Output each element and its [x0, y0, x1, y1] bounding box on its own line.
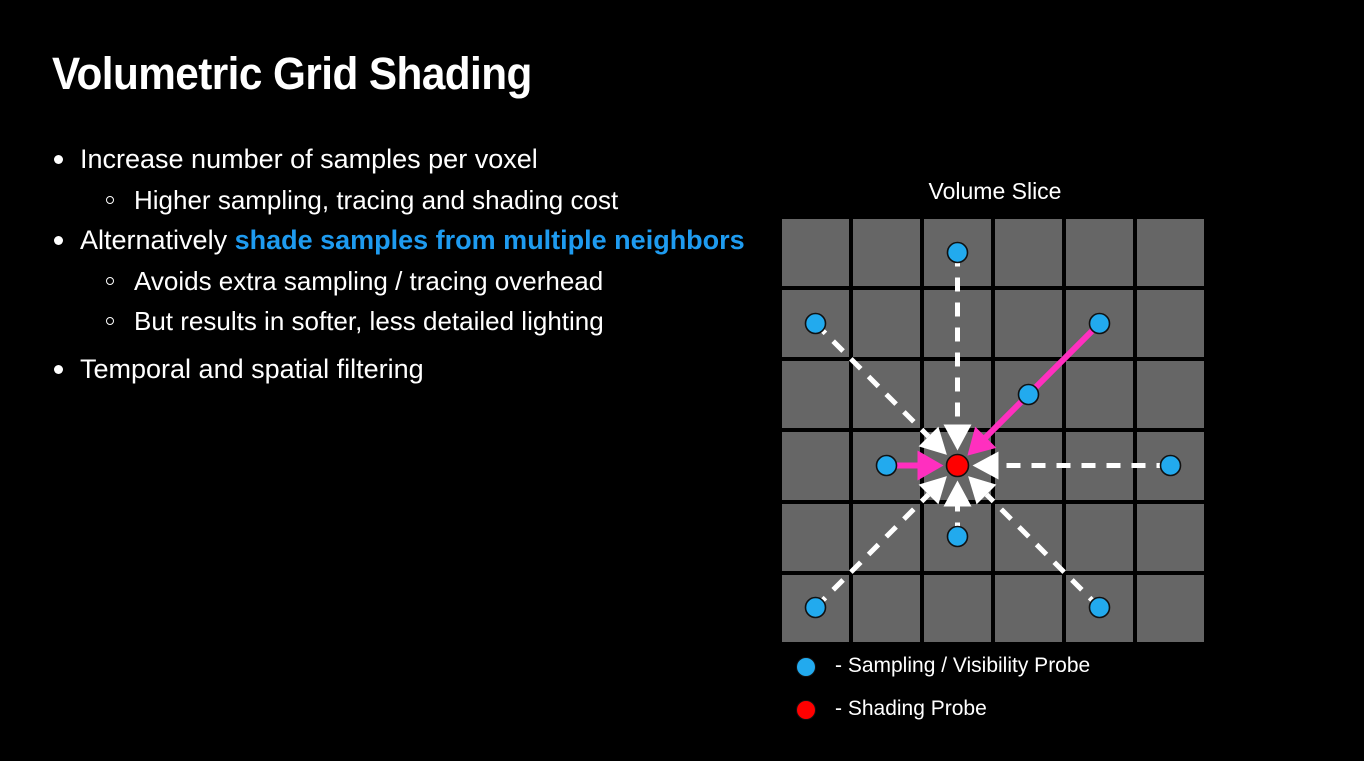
- voxel-cell: [995, 504, 1062, 571]
- voxel-cell: [924, 290, 991, 357]
- voxel-cell: [782, 290, 849, 357]
- voxel-cell: [782, 432, 849, 499]
- voxel-cell: [853, 432, 920, 499]
- voxel-cell: [995, 361, 1062, 428]
- voxel-cell: [1137, 361, 1204, 428]
- bullet-list: Increase number of samples per voxelHigh…: [50, 146, 780, 397]
- blue-dot-icon: [796, 657, 816, 677]
- page-title: Volumetric Grid Shading: [52, 48, 532, 100]
- bullet-text: Temporal and spatial filtering: [80, 354, 424, 384]
- bullet-circle-icon: [106, 196, 114, 204]
- legend: - Sampling / Visibility Probe- Shading P…: [796, 657, 1226, 743]
- volume-slice-diagram: Volume Slice - Sampling / Visibility Pro…: [760, 170, 1230, 740]
- voxel-cell: [853, 219, 920, 286]
- voxel-cell: [1137, 504, 1204, 571]
- voxel-cell: [1137, 432, 1204, 499]
- bullet-item-l2: Avoids extra sampling / tracing overhead: [50, 268, 780, 294]
- bullet-text: Avoids extra sampling / tracing overhead: [134, 266, 603, 296]
- bullet-text: But results in softer, less detailed lig…: [134, 306, 604, 336]
- voxel-cell: [995, 290, 1062, 357]
- voxel-cell: [924, 432, 991, 499]
- voxel-cell: [853, 504, 920, 571]
- voxel-cell: [1066, 361, 1133, 428]
- legend-label: - Sampling / Visibility Probe: [835, 654, 1090, 678]
- legend-label: - Shading Probe: [835, 697, 987, 721]
- bullet-text: Alternatively shade samples from multipl…: [80, 225, 745, 255]
- voxel-cell: [1137, 575, 1204, 642]
- voxel-cell: [1066, 219, 1133, 286]
- voxel-cell: [853, 290, 920, 357]
- legend-item: - Shading Probe: [796, 700, 1226, 743]
- diagram-title: Volume Slice: [760, 178, 1230, 205]
- bullet-item-l1: Alternatively shade samples from multipl…: [50, 227, 780, 254]
- bullet-item-l2: Higher sampling, tracing and shading cos…: [50, 187, 780, 213]
- voxel-cell: [782, 219, 849, 286]
- red-dot-icon: [796, 700, 816, 720]
- bullet-circle-icon: [106, 317, 114, 325]
- voxel-cell: [924, 575, 991, 642]
- voxel-cell: [924, 219, 991, 286]
- bullet-text: Higher sampling, tracing and shading cos…: [134, 185, 618, 215]
- voxel-cell: [1066, 290, 1133, 357]
- voxel-cell: [1066, 432, 1133, 499]
- voxel-cell: [1137, 219, 1204, 286]
- voxel-cell: [924, 361, 991, 428]
- voxel-grid-wrapper: [782, 219, 1204, 642]
- voxel-cell: [995, 219, 1062, 286]
- bullet-disc-icon: [54, 365, 63, 374]
- bullet-circle-icon: [106, 277, 114, 285]
- voxel-cell: [924, 504, 991, 571]
- voxel-cell: [782, 361, 849, 428]
- bullet-item-l1: Increase number of samples per voxel: [50, 146, 780, 173]
- voxel-cell: [995, 432, 1062, 499]
- bullet-item-l2: But results in softer, less detailed lig…: [50, 308, 780, 334]
- voxel-cell: [1066, 575, 1133, 642]
- voxel-cell: [1137, 290, 1204, 357]
- voxel-cell: [782, 575, 849, 642]
- bullet-text: Increase number of samples per voxel: [80, 144, 538, 174]
- voxel-cell: [853, 575, 920, 642]
- bullet-item-l1: Temporal and spatial filtering: [50, 356, 780, 383]
- bullet-highlight-text: shade samples from multiple neighbors: [235, 225, 745, 255]
- legend-item: - Sampling / Visibility Probe: [796, 657, 1226, 700]
- voxel-cell: [995, 575, 1062, 642]
- bullet-disc-icon: [54, 236, 63, 245]
- voxel-cell: [1066, 504, 1133, 571]
- voxel-grid: [782, 219, 1204, 642]
- voxel-cell: [782, 504, 849, 571]
- bullet-disc-icon: [54, 155, 63, 164]
- voxel-cell: [853, 361, 920, 428]
